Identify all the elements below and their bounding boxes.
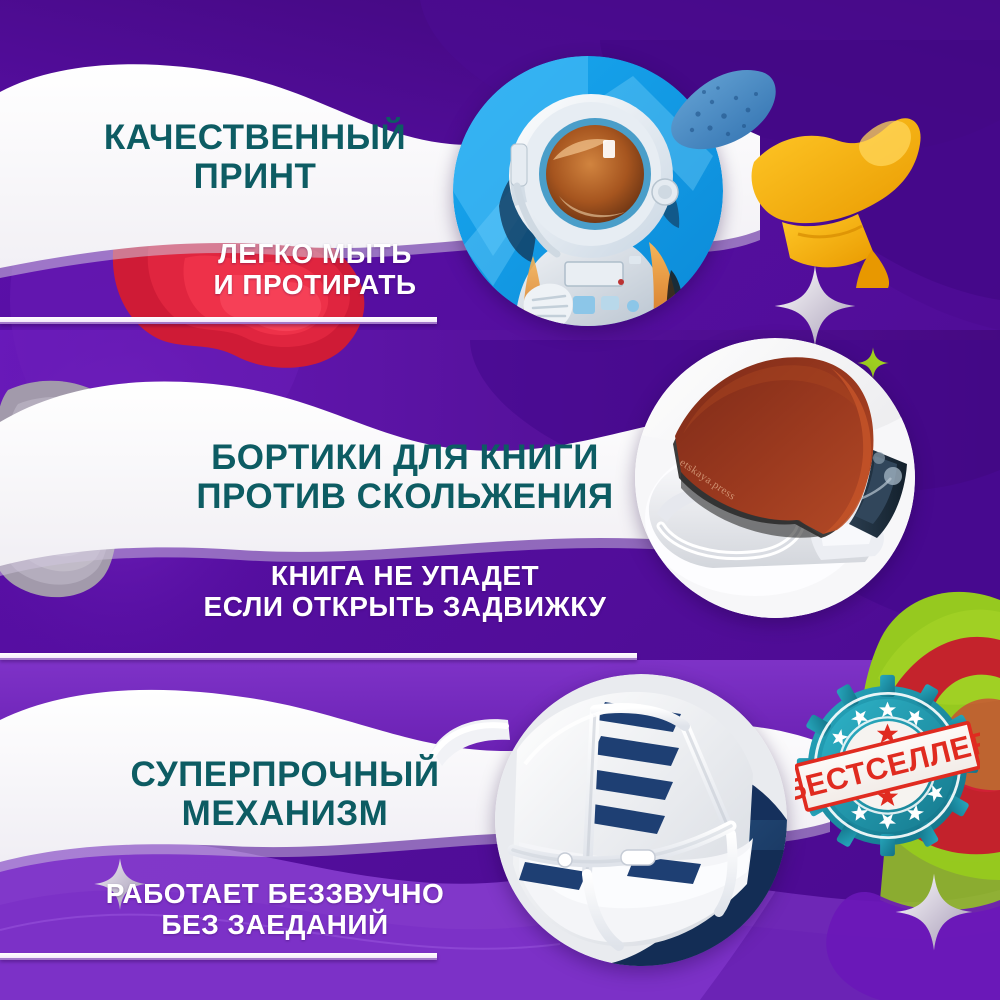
headline-book-ledges: БОРТИКИ ДЛЯ КНИГИ ПРОТИВ СКОЛЬЖЕНИЯ xyxy=(170,438,640,516)
divider-2 xyxy=(0,653,637,660)
headline-quality-print: КАЧЕСТВЕННЫЙ ПРИНТ xyxy=(60,118,450,196)
stand-mechanism-photo xyxy=(495,674,787,966)
headline-strong-mechanism: СУПЕРПРОЧНЫЙ МЕХАНИЗМ xyxy=(80,755,490,833)
subtext-silent-operation: РАБОТАЕТ БЕЗЗВУЧНО БЕЗ ЗАЕДАНИЙ xyxy=(60,878,490,941)
sponge-and-glove-decor xyxy=(658,58,926,288)
divider-3 xyxy=(0,953,437,960)
subtext-book-wont-fall: КНИГА НЕ УПАДЕТ ЕСЛИ ОТКРЫТЬ ЗАДВИЖКУ xyxy=(170,560,640,623)
bestseller-badge[interactable]: БЕСТСЕЛЛЕР xyxy=(795,673,980,858)
subtext-easy-to-clean: ЛЕГКО МЫТЬ И ПРОТИРАТЬ xyxy=(150,238,480,301)
divider-1 xyxy=(0,317,437,324)
infographic-canvas: etskaya.press xyxy=(0,0,1000,1000)
sparkle-silver-right-lower xyxy=(894,872,974,957)
book-on-stand-photo: etskaya.press xyxy=(635,338,915,618)
hinge-latch xyxy=(621,850,655,865)
